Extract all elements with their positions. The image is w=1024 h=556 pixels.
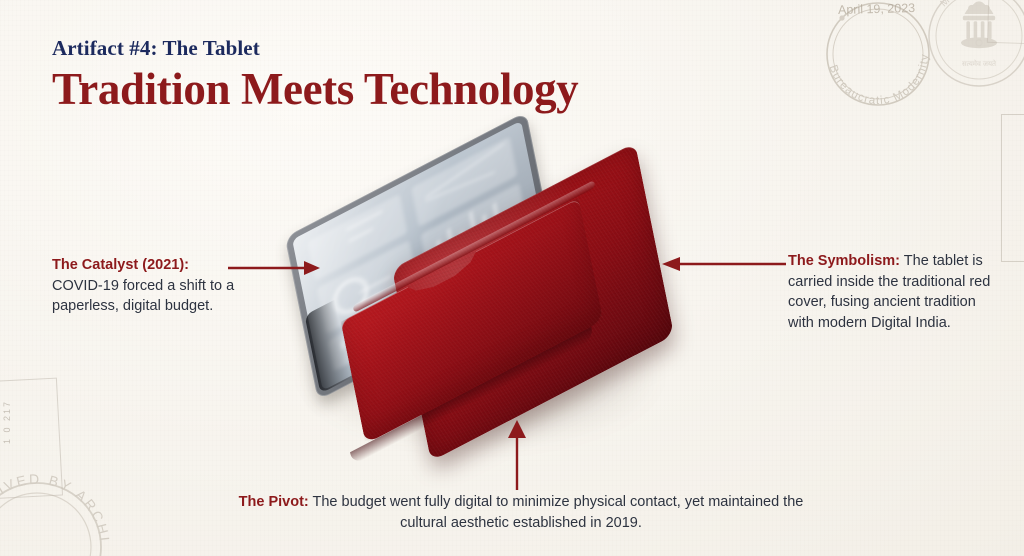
callout-catalyst: The Catalyst (2021): COVID-19 forced a s… <box>52 255 242 317</box>
faded-rectangle-mark-left <box>0 378 63 501</box>
seal-top-text: MAHANI <box>939 0 992 9</box>
artifact-photo: सत्यमेव जयते <box>278 150 698 470</box>
callout-pivot-body: The budget went fully digital to minimiz… <box>309 494 804 531</box>
callout-symbolism: The Symbolism: The tablet is carried ins… <box>788 251 1000 333</box>
callout-catalyst-lead: The Catalyst (2021): <box>52 257 189 273</box>
svg-text:ARCHIVED BY ARCHIVANT: ARCHIVED BY ARCHIVANT <box>0 462 113 544</box>
callout-catalyst-body: COVID-19 forced a shift to a paperless, … <box>52 278 234 315</box>
slide-canvas: 1 0 217 April 19, 2023 Bureaucratic Mode… <box>0 0 1024 556</box>
callout-pivot: The Pivot: The budget went fully digital… <box>236 492 806 533</box>
page-title: Tradition Meets Technology <box>52 66 578 113</box>
artifact-eyebrow: Artifact #4: The Tablet <box>52 36 578 61</box>
faded-rectangle-mark-top-right <box>987 0 1024 45</box>
faded-rectangle-mark-right <box>1001 114 1024 262</box>
svg-text:Bureaucratic Modernity: Bureaucratic Modernity <box>827 53 932 107</box>
seal-motto: सत्यमेव जयते <box>962 59 997 68</box>
faded-tick-marks: 1 0 217 <box>2 400 12 444</box>
slide-header: Artifact #4: The Tablet Tradition Meets … <box>52 36 578 113</box>
callout-pivot-lead: The Pivot: <box>239 494 309 510</box>
stamp-archivant: ARCHIVED BY ARCHIVANT <box>0 462 122 556</box>
callout-symbolism-lead: The Symbolism: <box>788 253 900 269</box>
stamp-emblem-seal: MAHANI सत्यमेव जयते <box>920 0 1024 100</box>
stamp-date: April 19, 2023 <box>838 1 915 17</box>
svg-text:MAHANI: MAHANI <box>939 0 992 9</box>
stamp-bureaucratic-modernity: Bureaucratic Modernity <box>812 0 944 120</box>
